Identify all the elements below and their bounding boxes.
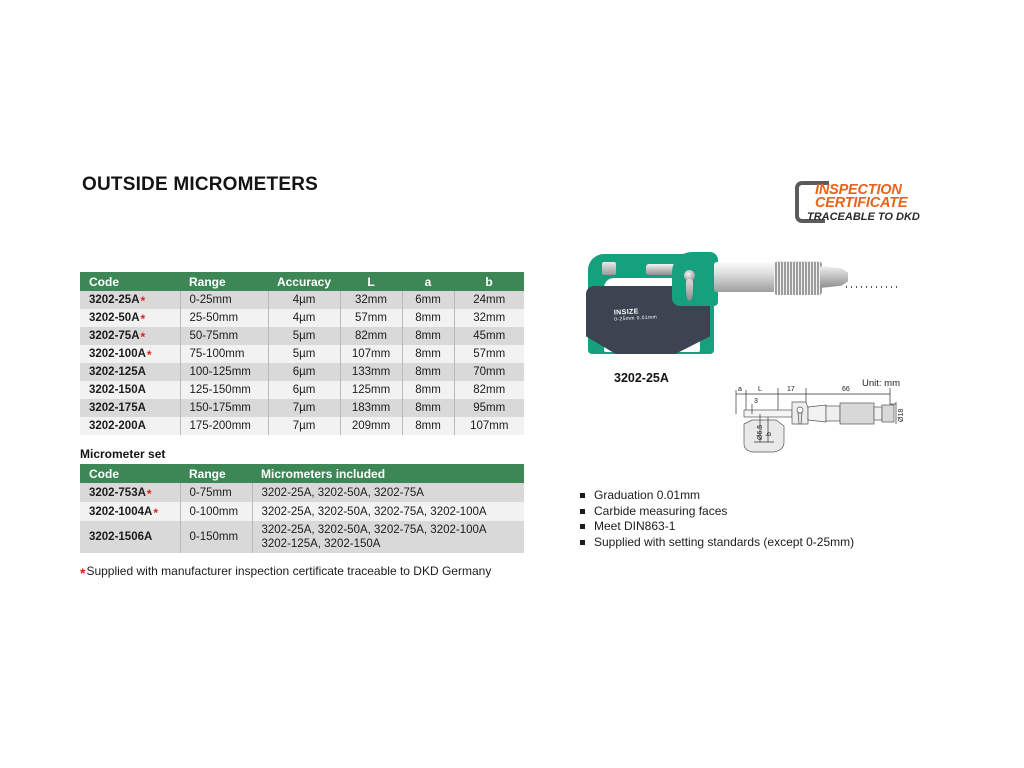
dim-3-label: 3 — [754, 398, 758, 405]
list-item: Graduation 0.01mm — [580, 488, 854, 504]
square-bullet-icon — [580, 509, 585, 514]
cert-certificate-text: CERTIFICATE — [815, 195, 907, 211]
square-bullet-icon — [580, 524, 585, 529]
cell-l: 107mm — [340, 345, 402, 363]
micrometer-sleeve — [714, 262, 780, 292]
certificate-star: * — [141, 294, 146, 308]
cell-accuracy: 6µm — [268, 363, 340, 381]
cell-a: 8mm — [402, 327, 454, 345]
code-text: 3202-25A — [89, 294, 140, 306]
cell-l: 32mm — [340, 291, 402, 309]
cell-b: 82mm — [454, 381, 524, 399]
cell-b: 70mm — [454, 363, 524, 381]
cell-accuracy: 5µm — [268, 345, 340, 363]
cell-code: 3202-1506A — [80, 521, 180, 553]
square-bullet-icon — [580, 493, 585, 498]
page-title: OUTSIDE MICROMETERS — [82, 174, 318, 196]
table-row: 3202-50A* 25-50mm 4µm 57mm 8mm 32mm — [80, 309, 524, 327]
cell-code: 3202-150A — [80, 381, 180, 399]
table-row: 3202-25A* 0-25mm 4µm 32mm 6mm 24mm — [80, 291, 524, 309]
cell-a: 8mm — [402, 381, 454, 399]
certificate-star: * — [147, 348, 152, 362]
dim-dia18-label: Ø18 — [898, 409, 905, 422]
micrometer-lock-lever — [686, 279, 693, 301]
footnote-text: Supplied with manufacturer inspection ce… — [86, 564, 491, 578]
cell-range: 0-75mm — [180, 483, 252, 502]
micrometer-set-heading: Micrometer set — [80, 447, 165, 461]
product-caption: 3202-25A — [614, 371, 669, 385]
code-text: 3202-1004A — [89, 506, 152, 518]
cell-range: 50-75mm — [180, 327, 268, 345]
column-header-included: Micrometers included — [252, 464, 524, 483]
cell-included: 3202-25A, 3202-50A, 3202-75A — [252, 483, 524, 502]
technical-drawing: a L 17 66 3 Ø6.5 b Ø18 — [730, 380, 914, 458]
included-line-2: 3202-125A, 3202-150A — [262, 537, 525, 551]
table-row: 3202-100A* 75-100mm 5µm 107mm 8mm 57mm — [80, 345, 524, 363]
micrometer-set-table: Code Range Micrometers included 3202-753… — [80, 464, 524, 553]
code-text: 3202-75A — [89, 330, 140, 342]
cell-range: 150-175mm — [180, 399, 268, 417]
table-row: 3202-753A* 0-75mm 3202-25A, 3202-50A, 32… — [80, 483, 524, 502]
cell-range: 25-50mm — [180, 309, 268, 327]
certificate-star: * — [141, 312, 146, 326]
cell-a: 8mm — [402, 399, 454, 417]
cell-range: 75-100mm — [180, 345, 268, 363]
micrometer-ratchet-stop — [820, 266, 848, 288]
table-row: 3202-1004A* 0-100mm 3202-25A, 3202-50A, … — [80, 502, 524, 521]
cell-b: 107mm — [454, 417, 524, 435]
cell-code: 3202-75A* — [80, 327, 180, 345]
cell-range: 0-25mm — [180, 291, 268, 309]
cell-code: 3202-200A — [80, 417, 180, 435]
micrometer-anvil — [602, 262, 616, 275]
cell-a: 8mm — [402, 309, 454, 327]
cell-code: 3202-753A* — [80, 483, 180, 502]
feature-text: Meet DIN863-1 — [594, 519, 675, 533]
list-item: Carbide measuring faces — [580, 504, 854, 520]
cell-a: 8mm — [402, 345, 454, 363]
table-row: 3202-125A 100-125mm 6µm 133mm 8mm 70mm — [80, 363, 524, 381]
column-header-range: Range — [180, 464, 252, 483]
dim-b-label: b — [766, 432, 773, 436]
cell-accuracy: 6µm — [268, 381, 340, 399]
table-row: 3202-75A* 50-75mm 5µm 82mm 8mm 45mm — [80, 327, 524, 345]
dim-66-label: 66 — [842, 386, 850, 393]
feature-text: Graduation 0.01mm — [594, 488, 700, 502]
product-photo: INSIZE 0-25mm 0.01mm — [588, 246, 858, 366]
table-row: 3202-175A 150-175mm 7µm 183mm 8mm 95mm — [80, 399, 524, 417]
code-text: 3202-50A — [89, 312, 140, 324]
specifications-table: Code Range Accuracy L a b 3202-25A* 0-25… — [80, 272, 524, 435]
cell-l: 125mm — [340, 381, 402, 399]
cell-code: 3202-100A* — [80, 345, 180, 363]
feature-list: Graduation 0.01mm Carbide measuring face… — [580, 488, 854, 550]
dim-dia65-label: Ø6.5 — [757, 425, 764, 440]
micrometer-thimble — [774, 261, 822, 295]
inspection-certificate-logo: INSPECTION CERTIFICATE TRACEABLE TO DKD — [795, 181, 950, 229]
cell-code: 3202-25A* — [80, 291, 180, 309]
certificate-star: * — [141, 330, 146, 344]
table-row: 3202-150A 125-150mm 6µm 125mm 8mm 82mm — [80, 381, 524, 399]
column-header-range: Range — [180, 272, 268, 291]
cell-a: 6mm — [402, 291, 454, 309]
certificate-star: * — [147, 487, 152, 501]
cell-included: 3202-25A, 3202-50A, 3202-75A, 3202-100A … — [252, 521, 524, 553]
footnote-star: * — [80, 565, 85, 581]
cell-range: 0-150mm — [180, 521, 252, 553]
feature-text: Supplied with setting standards (except … — [594, 535, 854, 549]
code-text: 3202-100A — [89, 348, 146, 360]
column-header-code: Code — [80, 272, 180, 291]
included-line-1: 3202-25A, 3202-50A, 3202-75A, 3202-100A — [262, 523, 525, 537]
cell-b: 32mm — [454, 309, 524, 327]
cell-b: 24mm — [454, 291, 524, 309]
dim-L-label: L — [758, 386, 762, 393]
square-bullet-icon — [580, 540, 585, 545]
cell-code: 3202-175A — [80, 399, 180, 417]
footnote: *Supplied with manufacturer inspection c… — [80, 564, 491, 578]
cell-a: 8mm — [402, 363, 454, 381]
micrometer-sleeve-scale — [846, 286, 898, 288]
certificate-star: * — [153, 506, 158, 520]
cell-l: 133mm — [340, 363, 402, 381]
cell-accuracy: 7µm — [268, 399, 340, 417]
column-header-code: Code — [80, 464, 180, 483]
cell-range: 125-150mm — [180, 381, 268, 399]
cell-range: 100-125mm — [180, 363, 268, 381]
cell-b: 57mm — [454, 345, 524, 363]
dim-a-label: a — [738, 386, 742, 393]
code-text: 3202-753A — [89, 487, 146, 499]
table-row: 3202-200A 175-200mm 7µm 209mm 8mm 107mm — [80, 417, 524, 435]
micrometer-collar — [672, 252, 718, 306]
table-header-row: Code Range Accuracy L a b — [80, 272, 524, 291]
cell-a: 8mm — [402, 417, 454, 435]
cell-b: 45mm — [454, 327, 524, 345]
list-item: Meet DIN863-1 — [580, 519, 854, 535]
list-item: Supplied with setting standards (except … — [580, 535, 854, 551]
column-header-accuracy: Accuracy — [268, 272, 340, 291]
cell-accuracy: 4µm — [268, 309, 340, 327]
cell-l: 183mm — [340, 399, 402, 417]
dim-17-label: 17 — [787, 386, 795, 393]
cell-code: 3202-125A — [80, 363, 180, 381]
technical-drawing-svg: a L 17 66 3 Ø6.5 b Ø18 — [730, 380, 914, 458]
cell-l: 57mm — [340, 309, 402, 327]
cell-range: 175-200mm — [180, 417, 268, 435]
cell-accuracy: 5µm — [268, 327, 340, 345]
cert-traceable-text: TRACEABLE TO DKD — [807, 211, 920, 223]
cell-range: 0-100mm — [180, 502, 252, 521]
cell-l: 209mm — [340, 417, 402, 435]
cell-included: 3202-25A, 3202-50A, 3202-75A, 3202-100A — [252, 502, 524, 521]
cell-b: 95mm — [454, 399, 524, 417]
feature-text: Carbide measuring faces — [594, 504, 727, 518]
column-header-a: a — [402, 272, 454, 291]
cell-code: 3202-50A* — [80, 309, 180, 327]
table-header-row: Code Range Micrometers included — [80, 464, 524, 483]
column-header-l: L — [340, 272, 402, 291]
table-row: 3202-1506A 0-150mm 3202-25A, 3202-50A, 3… — [80, 521, 524, 553]
column-header-b: b — [454, 272, 524, 291]
cell-accuracy: 4µm — [268, 291, 340, 309]
cell-accuracy: 7µm — [268, 417, 340, 435]
cell-l: 82mm — [340, 327, 402, 345]
cell-code: 3202-1004A* — [80, 502, 180, 521]
